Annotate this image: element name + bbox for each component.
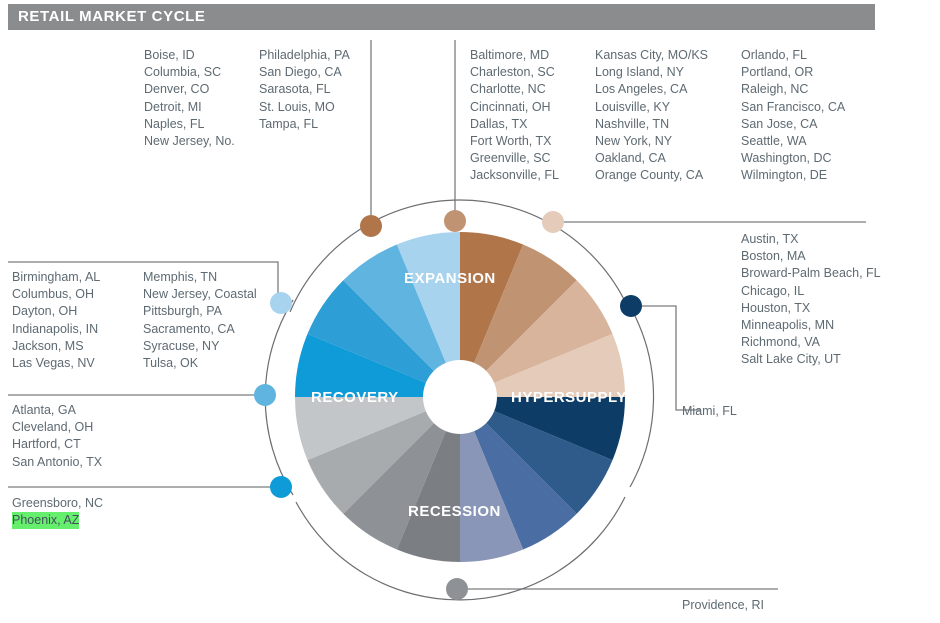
list-item: Columbus, OH xyxy=(12,286,100,303)
list-item: Kansas City, MO/KS xyxy=(595,47,708,64)
city-group-top-right-col1: Baltimore, MD Charleston, SC Charlotte, … xyxy=(470,47,559,185)
list-item: Los Angeles, CA xyxy=(595,81,708,98)
list-item: Pittsburgh, PA xyxy=(143,303,257,320)
quadrant-label-expansion: EXPANSION xyxy=(404,270,496,287)
list-item: Sarasota, FL xyxy=(259,81,350,98)
list-item: Syracuse, NY xyxy=(143,338,257,355)
leader-miami xyxy=(631,306,700,410)
list-item: Boston, MA xyxy=(741,248,881,265)
city-group-top-right-col2: Kansas City, MO/KS Long Island, NY Los A… xyxy=(595,47,708,185)
dot-expansion-4[interactable] xyxy=(542,211,564,233)
dot-recovery-4[interactable] xyxy=(270,292,292,314)
list-item: Cincinnati, OH xyxy=(470,99,559,116)
arc-right xyxy=(630,314,654,487)
city-group-left-lower: Greensboro, NC Phoenix, AZ xyxy=(12,495,103,529)
list-item: Charleston, SC xyxy=(470,64,559,81)
list-item: Seattle, WA xyxy=(741,133,845,150)
list-item: Greensboro, NC xyxy=(12,495,103,512)
list-item: Nashville, TN xyxy=(595,116,708,133)
list-item: New York, NY xyxy=(595,133,708,150)
list-item: Birmingham, AL xyxy=(12,269,100,286)
list-item: Memphis, TN xyxy=(143,269,257,286)
list-item: Jacksonville, FL xyxy=(470,167,559,184)
list-item: San Diego, CA xyxy=(259,64,350,81)
list-item: Jackson, MS xyxy=(12,338,100,355)
list-item: Chicago, IL xyxy=(741,283,881,300)
city-group-left-middle: Atlanta, GA Cleveland, OH Hartford, CT S… xyxy=(12,402,102,471)
list-item: Washington, DC xyxy=(741,150,845,167)
dot-recovery-2[interactable] xyxy=(254,384,276,406)
retail-market-cycle-page: RETAIL MARKET CYCLE xyxy=(0,0,940,623)
city-group-left-upper-col1: Birmingham, AL Columbus, OH Dayton, OH I… xyxy=(12,269,100,372)
list-item: Minneapolis, MN xyxy=(741,317,881,334)
dot-recession-2[interactable] xyxy=(446,578,468,600)
city-group-top-left-col2: Philadelphia, PA San Diego, CA Sarasota,… xyxy=(259,47,350,133)
list-item: New Jersey, No. xyxy=(144,133,235,150)
list-item: Denver, CO xyxy=(144,81,235,98)
list-item: Atlanta, GA xyxy=(12,402,102,419)
list-item: Orange County, CA xyxy=(595,167,708,184)
list-item: Dallas, TX xyxy=(470,116,559,133)
list-item: Salt Lake City, UT xyxy=(741,351,881,368)
list-item: Detroit, MI xyxy=(144,99,235,116)
list-item: Orlando, FL xyxy=(741,47,845,64)
city-group-top-right-col3: Orlando, FL Portland, OR Raleigh, NC San… xyxy=(741,47,845,185)
quadrant-label-hypersupply: HYPERSUPPLY xyxy=(511,389,627,406)
city-group-right-upper: Austin, TX Boston, MA Broward-Palm Beach… xyxy=(741,231,881,369)
list-item: Fort Worth, TX xyxy=(470,133,559,150)
list-item: Austin, TX xyxy=(741,231,881,248)
dot-expansion-1[interactable] xyxy=(360,215,382,237)
wheel-hub xyxy=(423,360,497,434)
list-item: Oakland, CA xyxy=(595,150,708,167)
list-item: Raleigh, NC xyxy=(741,81,845,98)
list-item: San Francisco, CA xyxy=(741,99,845,116)
list-item: Broward-Palm Beach, FL xyxy=(741,265,881,282)
list-item: San Antonio, TX xyxy=(12,454,102,471)
list-item: Richmond, VA xyxy=(741,334,881,351)
city-group-left-upper-col2: Memphis, TN New Jersey, Coastal Pittsbur… xyxy=(143,269,257,372)
list-item: Portland, OR xyxy=(741,64,845,81)
list-item: Louisville, KY xyxy=(595,99,708,116)
list-item: New Jersey, Coastal xyxy=(143,286,257,303)
list-item: Naples, FL xyxy=(144,116,235,133)
list-item: Charlotte, NC xyxy=(470,81,559,98)
city-group-providence: Providence, RI xyxy=(682,597,764,614)
list-item: San Jose, CA xyxy=(741,116,845,133)
list-item: Greenville, SC xyxy=(470,150,559,167)
list-item: Columbia, SC xyxy=(144,64,235,81)
dot-hypersupply-1[interactable] xyxy=(620,295,642,317)
list-item: Tulsa, OK xyxy=(143,355,257,372)
list-item: Baltimore, MD xyxy=(470,47,559,64)
list-item: Hartford, CT xyxy=(12,436,102,453)
list-item: Houston, TX xyxy=(741,300,881,317)
dot-recovery-1[interactable] xyxy=(270,476,292,498)
city-group-miami: Miami, FL xyxy=(682,403,737,420)
list-item-highlighted: Phoenix, AZ xyxy=(12,512,79,529)
list-item: Philadelphia, PA xyxy=(259,47,350,64)
list-item: Boise, ID xyxy=(144,47,235,64)
list-item: Sacramento, CA xyxy=(143,321,257,338)
list-item: Dayton, OH xyxy=(12,303,100,320)
list-item: Cleveland, OH xyxy=(12,419,102,436)
list-item: Wilmington, DE xyxy=(741,167,845,184)
list-item: St. Louis, MO xyxy=(259,99,350,116)
quadrant-label-recovery: RECOVERY xyxy=(311,389,399,406)
list-item: Indianapolis, IN xyxy=(12,321,100,338)
list-item: Long Island, NY xyxy=(595,64,708,81)
dot-expansion-2[interactable] xyxy=(444,210,466,232)
list-item: Las Vegas, NV xyxy=(12,355,100,372)
list-item: Tampa, FL xyxy=(259,116,350,133)
quadrant-label-recession: RECESSION xyxy=(408,503,501,520)
city-group-top-left-col1: Boise, ID Columbia, SC Denver, CO Detroi… xyxy=(144,47,235,150)
